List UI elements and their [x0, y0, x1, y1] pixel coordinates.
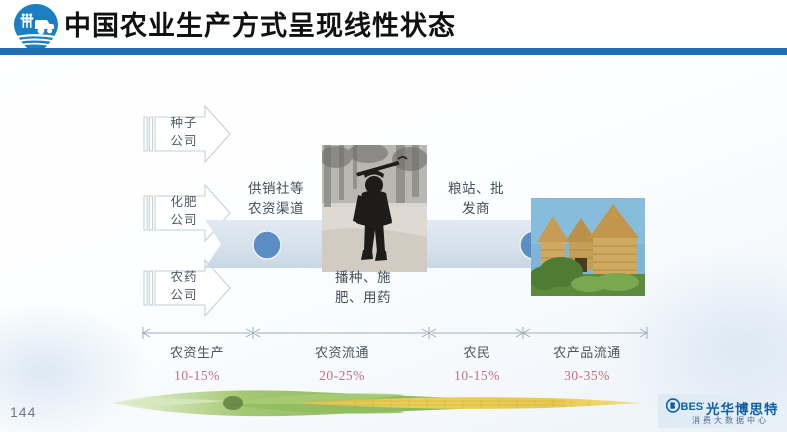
farmer-carrying-load-photo	[322, 145, 427, 272]
flow-label-farming-activities: 播种、施 肥、用药	[300, 268, 426, 308]
input-node-label: 化肥 公司	[161, 193, 207, 229]
input-node-label-line1: 种子	[161, 114, 207, 132]
flow-label-channel-line1: 供销社等	[222, 179, 330, 199]
flow-label-grain-line2: 发商	[424, 199, 528, 219]
segment-label-1: 农资流通	[254, 342, 430, 361]
flow-label-grain-line1: 粮站、批	[424, 179, 528, 199]
input-node-label: 种子 公司	[161, 114, 207, 150]
input-node-label-line2: 公司	[161, 132, 207, 150]
flow-label-farming-line1: 播种、施	[300, 268, 426, 288]
flow-label-channel: 供销社等 农资渠道	[222, 179, 330, 219]
brand-tagline: 消费大数据中心	[692, 415, 769, 426]
flow-label-channel-line2: 农资渠道	[222, 199, 330, 219]
grain-storage-silos-photo	[531, 198, 645, 296]
corn-cob-image	[105, 378, 650, 428]
flow-label-grain-station: 粮站、批 发商	[424, 179, 528, 219]
segment-label-3: 农产品流通	[524, 342, 650, 361]
input-node-label: 农药 公司	[161, 268, 207, 304]
flow-label-farming-line2: 肥、用药	[300, 288, 426, 308]
best-logo-text: BEST	[681, 401, 705, 413]
input-node-seed-company[interactable]: 种子 公司	[141, 103, 233, 165]
value-chain-dimension-bar	[140, 326, 650, 340]
slide-canvas: 中国农业生产方式呈现线性状态 种子 公司 化肥 公司	[0, 0, 787, 432]
header-divider	[0, 48, 787, 55]
input-node-label-line2: 公司	[161, 211, 207, 229]
slide-header: 中国农业生产方式呈现线性状态	[0, 0, 787, 56]
brand-logo: BEST 光华博思特 消费大数据中心	[666, 398, 782, 428]
input-node-label-line1: 化肥	[161, 193, 207, 211]
page-title: 中国农业生产方式呈现线性状态	[64, 6, 456, 46]
segment-label-0: 农资生产	[140, 342, 254, 361]
page-number: 144	[10, 404, 36, 420]
input-node-label-line2: 公司	[161, 286, 207, 304]
segment-label-2: 农民	[430, 342, 524, 361]
best-logo-icon: BEST	[666, 398, 704, 413]
input-node-label-line1: 农药	[161, 268, 207, 286]
